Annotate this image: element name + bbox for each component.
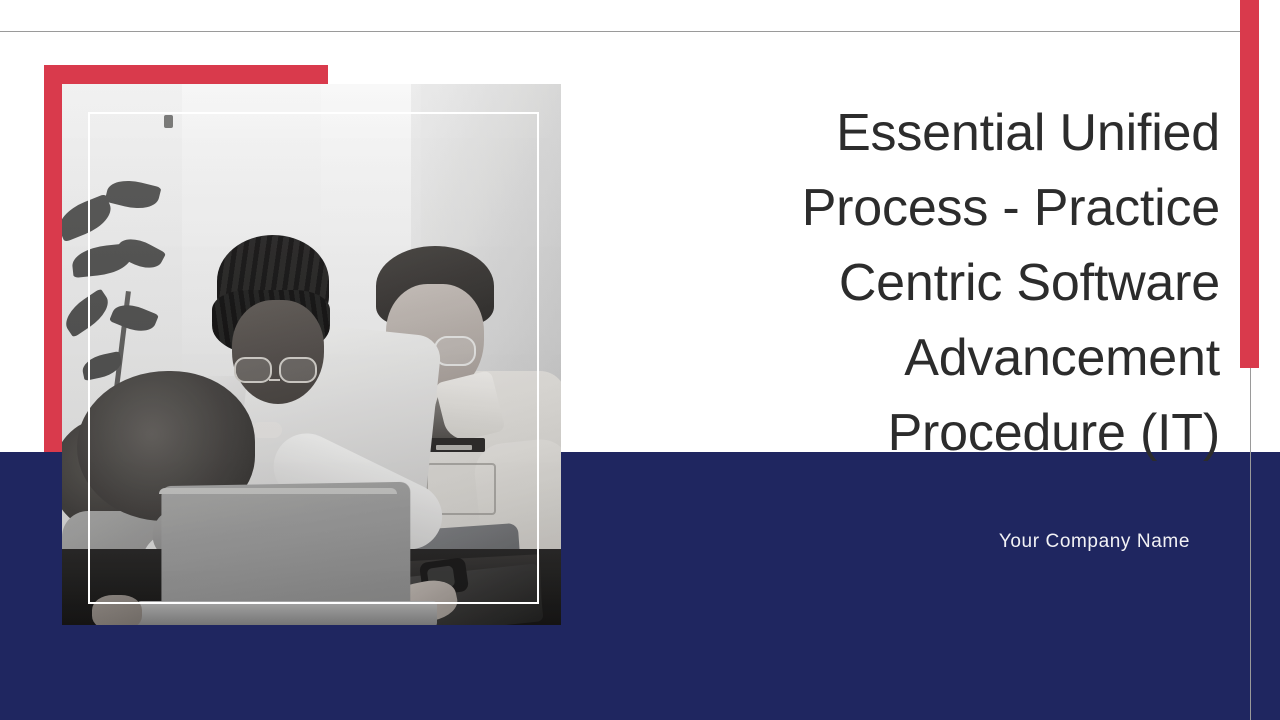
red-accent-bar-right bbox=[1240, 0, 1259, 368]
top-divider-rule bbox=[0, 31, 1242, 32]
company-name-label: Your Company Name bbox=[760, 531, 1190, 553]
page-title: Essential Unified Process - Practice Cen… bbox=[620, 96, 1220, 471]
title-slide: Essential Unified Process - Practice Cen… bbox=[0, 0, 1280, 720]
red-accent-frame-left bbox=[44, 65, 63, 452]
red-accent-frame-top bbox=[44, 65, 328, 84]
team-photo-artwork bbox=[62, 84, 561, 625]
team-photo bbox=[62, 84, 561, 625]
photo-tone-overlay bbox=[62, 84, 561, 625]
